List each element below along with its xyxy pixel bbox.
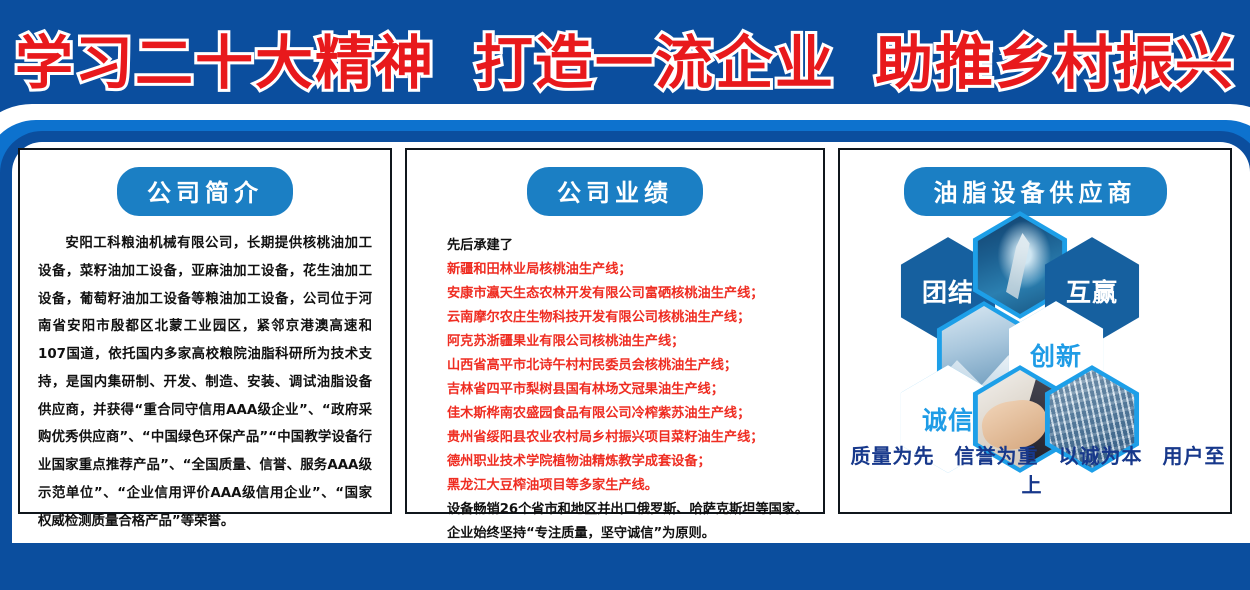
panel-achievements: 公司业绩 先后承建了 新疆和田林业局核桃油生产线； 安康市瀛天生态农林开发有限公… (405, 148, 825, 514)
tagline-part-2: 信誉为重 (955, 444, 1039, 468)
headline-part-2: 打造一流企业 (475, 16, 835, 100)
supplier-tagline: 质量为先 信誉为重 以诚为本 用户至上 (840, 440, 1230, 498)
achievement-item: 阿克苏浙疆果业有限公司核桃油生产线； (447, 330, 823, 354)
integrity-hex-label: 诚信 (922, 401, 974, 437)
headline-part-1: 学习二十大精神 (15, 16, 435, 100)
achievement-item: 新疆和田林业局核桃油生产线； (447, 258, 823, 282)
achievement-item: 佳木斯桦南农盛园食品有限公司冷榨紫苏油生产线； (447, 402, 823, 426)
achievements-list: 先后承建了 新疆和田林业局核桃油生产线； 安康市瀛天生态农林开发有限公司富硒核桃… (447, 234, 823, 546)
achievements-tail-1: 设备畅销26个省市和地区并出口俄罗斯、哈萨克斯坦等国家。 (447, 498, 823, 522)
tagline-part-1: 质量为先 (851, 444, 935, 468)
panel-company-paragraph: 安阳工科粮油机械有限公司，长期提供核桃油加工设备，菜籽油加工设备，亚麻油加工设备… (38, 230, 372, 535)
achievement-item: 德州职业技术学院植物油精炼教学成套设备； (447, 450, 823, 474)
panel-company-badge: 公司简介 (117, 167, 293, 216)
achievement-item: 山西省高平市北诗午村村民委员会核桃油生产线； (447, 354, 823, 378)
poster-headline: 学习二十大精神 打造一流企业 助推乡村振兴 (0, 21, 1250, 95)
achievement-item: 贵州省绥阳县农业农村局乡村振兴项目菜籽油生产线； (447, 426, 823, 450)
achievements-lead: 先后承建了 (447, 234, 823, 258)
footer-band (0, 543, 1250, 590)
panels-row: 公司简介 安阳工科粮油机械有限公司，长期提供核桃油加工设备，菜籽油加工设备，亚麻… (18, 148, 1232, 514)
company-paragraph-text: 安阳工科粮油机械有限公司，长期提供核桃油加工设备，菜籽油加工设备，亚麻油加工设备… (38, 236, 372, 529)
panel-supplier: 油脂设备供应商 团结 互赢 创新 (838, 148, 1232, 514)
achievement-item: 吉林省四平市梨树县国有林场文冠果油生产线； (447, 378, 823, 402)
poster-stage: 学习二十大精神 打造一流企业 助推乡村振兴 公司简介 安阳工科粮油机械有限公司，… (0, 0, 1250, 590)
tagline-part-3: 以诚为本 (1058, 444, 1142, 468)
achievement-item: 黑龙江大豆榨油项目等多家生产线。 (447, 474, 823, 498)
achievements-tail-2: 企业始终坚持“专注质量，坚守诚信”为原则。 (447, 522, 823, 546)
headline-part-3: 助推乡村振兴 (875, 16, 1235, 100)
achievement-item: 安康市瀛天生态农林开发有限公司富硒核桃油生产线； (447, 282, 823, 306)
panel-supplier-badge: 油脂设备供应商 (904, 167, 1167, 216)
panel-company-profile: 公司简介 安阳工科粮油机械有限公司，长期提供核桃油加工设备，菜籽油加工设备，亚麻… (18, 148, 392, 514)
achievement-item: 云南摩尔农庄生物科技开发有限公司核桃油生产线； (447, 306, 823, 330)
panel-achievements-badge: 公司业绩 (527, 167, 703, 216)
